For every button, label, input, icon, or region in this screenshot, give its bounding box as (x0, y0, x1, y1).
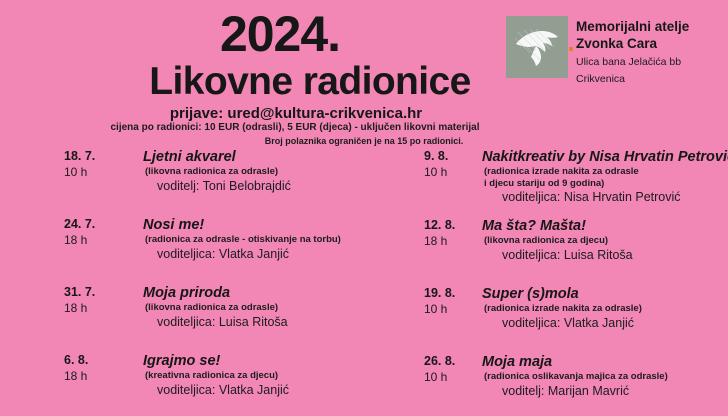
workshop-time: 18 h (64, 232, 126, 248)
workshop-entry: 12. 8.18 hMa šta? Mašta!(likovna radioni… (424, 217, 724, 273)
organizer-text: Memorijalni atelje Zvonka Cara Ulica ban… (576, 18, 726, 86)
workshop-description-line: (likovna radionica za odrasle) (145, 302, 414, 314)
workshop-time: 10 h (64, 164, 126, 180)
workshop-description-line: (radionica izrade nakita za odrasle (484, 166, 724, 178)
workshop-leader: voditeljica: Vlatka Janjić (143, 382, 414, 398)
poster-year: 2024. (0, 6, 560, 62)
workshop-title: Moja maja (482, 353, 724, 371)
workshop-time: 18 h (64, 368, 126, 384)
workshop-title: Ljetni akvarel (143, 148, 414, 166)
organizer-name-line1: Memorijalni atelje (576, 18, 726, 35)
workshop-description: (radionica izrade nakita za odrasle) (482, 303, 724, 315)
workshop-date: 18. 7. (64, 148, 126, 164)
workshop-time: 18 h (64, 300, 126, 316)
workshop-when: 18. 7.10 h (64, 148, 126, 180)
workshop-title: Super (s)mola (482, 285, 724, 303)
workshop-entry: 31. 7.18 hMoja priroda(likovna radionica… (64, 284, 414, 340)
workshop-description-line: (kreativna radionica za djecu) (145, 370, 414, 382)
workshop-description-line: (likovna radionica za odrasle) (145, 166, 414, 178)
organizer-address-line1: Ulica bana Jelačića bb (576, 55, 726, 69)
workshop-when: 12. 8.18 h (424, 217, 486, 249)
workshop-date: 19. 8. (424, 285, 486, 301)
workshop-entry: 9. 8.10 hNakitkreativ by Nisa Hrvatin Pe… (424, 148, 724, 205)
workshop-time: 18 h (424, 233, 486, 249)
poster-canvas: 2024. Likovne radionice prijave: ured@ku… (0, 0, 728, 416)
workshop-time: 10 h (424, 301, 486, 317)
workshop-date: 31. 7. (64, 284, 126, 300)
workshop-entry: 26. 8.10 hMoja maja(radionica oslikavanj… (424, 353, 724, 409)
workshop-entry: 6. 8.18 hIgrajmo se!(kreativna radionica… (64, 352, 414, 408)
workshop-title: Nakitkreativ by Nisa Hrvatin Petrović (482, 148, 724, 166)
workshop-date: 26. 8. (424, 353, 486, 369)
workshop-when: 31. 7.18 h (64, 284, 126, 316)
workshop-when: 6. 8.18 h (64, 352, 126, 384)
workshop-title: Moja priroda (143, 284, 414, 302)
workshop-date: 24. 7. (64, 216, 126, 232)
workshop-description-line: (radionica oslikavanja majica za odrasle… (484, 371, 724, 383)
workshop-when: 26. 8.10 h (424, 353, 486, 385)
workshop-title: Igrajmo se! (143, 352, 414, 370)
workshop-entry: 24. 7.18 hNosi me!(radionica za odrasle … (64, 216, 414, 272)
workshop-when: 19. 8.10 h (424, 285, 486, 317)
workshop-entry: 18. 7.10 hLjetni akvarel(likovna radioni… (64, 148, 414, 204)
workshop-time: 10 h (424, 164, 486, 180)
workshop-description: (likovna radionica za odrasle) (143, 302, 414, 314)
organizer-logo-block: Memorijalni atelje Zvonka Cara Ulica ban… (506, 16, 721, 96)
workshop-when: 9. 8.10 h (424, 148, 486, 180)
workshop-description: (radionica za odrasle - otiskivanje na t… (143, 234, 414, 246)
workshop-when: 24. 7.18 h (64, 216, 126, 248)
workshop-columns: 18. 7.10 hLjetni akvarel(likovna radioni… (0, 148, 728, 416)
workshop-date: 12. 8. (424, 217, 486, 233)
workshop-leader: voditeljica: Vlatka Janjić (143, 246, 414, 262)
workshop-leader: voditeljica: Luisa Ritoša (143, 314, 414, 330)
workshop-description: (likovna radionica za odrasle) (143, 166, 414, 178)
workshop-column-right: 9. 8.10 hNakitkreativ by Nisa Hrvatin Pe… (424, 148, 724, 416)
organizer-address-line2: Crikvenica (576, 72, 726, 86)
workshop-description-line: (likovna radionica za djecu) (484, 235, 724, 247)
workshop-title: Ma šta? Mašta! (482, 217, 724, 235)
workshop-description: (likovna radionica za djecu) (482, 235, 724, 247)
workshop-description-line: i djecu stariju od 9 godina) (484, 178, 724, 190)
workshop-description: (radionica izrade nakita za odrasle i dj… (482, 166, 724, 189)
workshop-leader: voditeljica: Nisa Hrvatin Petrović (482, 189, 724, 205)
logo-accent-dot (569, 47, 573, 51)
workshop-description: (radionica oslikavanja majica za odrasle… (482, 371, 724, 383)
workshop-description-line: (radionica izrade nakita za odrasle) (484, 303, 724, 315)
organizer-name-line2: Zvonka Cara (576, 35, 726, 52)
signup-email-line: prijave: ured@kultura-crikvenica.hr (0, 105, 592, 122)
workshop-description-line: (radionica za odrasle - otiskivanje na t… (145, 234, 414, 246)
workshop-date: 9. 8. (424, 148, 486, 164)
workshop-time: 10 h (424, 369, 486, 385)
participant-limit-note: Broj polaznika ograničen je na 15 po rad… (0, 136, 728, 147)
workshop-description: (kreativna radionica za djecu) (143, 370, 414, 382)
workshop-leader: voditelj: Marijan Mavrić (482, 383, 724, 399)
workshop-title: Nosi me! (143, 216, 414, 234)
workshop-leader: voditeljica: Luisa Ritoša (482, 247, 724, 263)
price-note: cijena po radionici: 10 EUR (odrasli), 5… (0, 122, 590, 134)
bird-sculpture-icon (506, 16, 568, 78)
workshop-column-left: 18. 7.10 hLjetni akvarel(likovna radioni… (64, 148, 414, 416)
workshop-leader: voditelj: Toni Belobrajdić (143, 178, 414, 194)
workshop-entry: 19. 8.10 hSuper (s)mola(radionica izrade… (424, 285, 724, 341)
workshop-leader: voditeljica: Vlatka Janjić (482, 315, 724, 331)
workshop-date: 6. 8. (64, 352, 126, 368)
